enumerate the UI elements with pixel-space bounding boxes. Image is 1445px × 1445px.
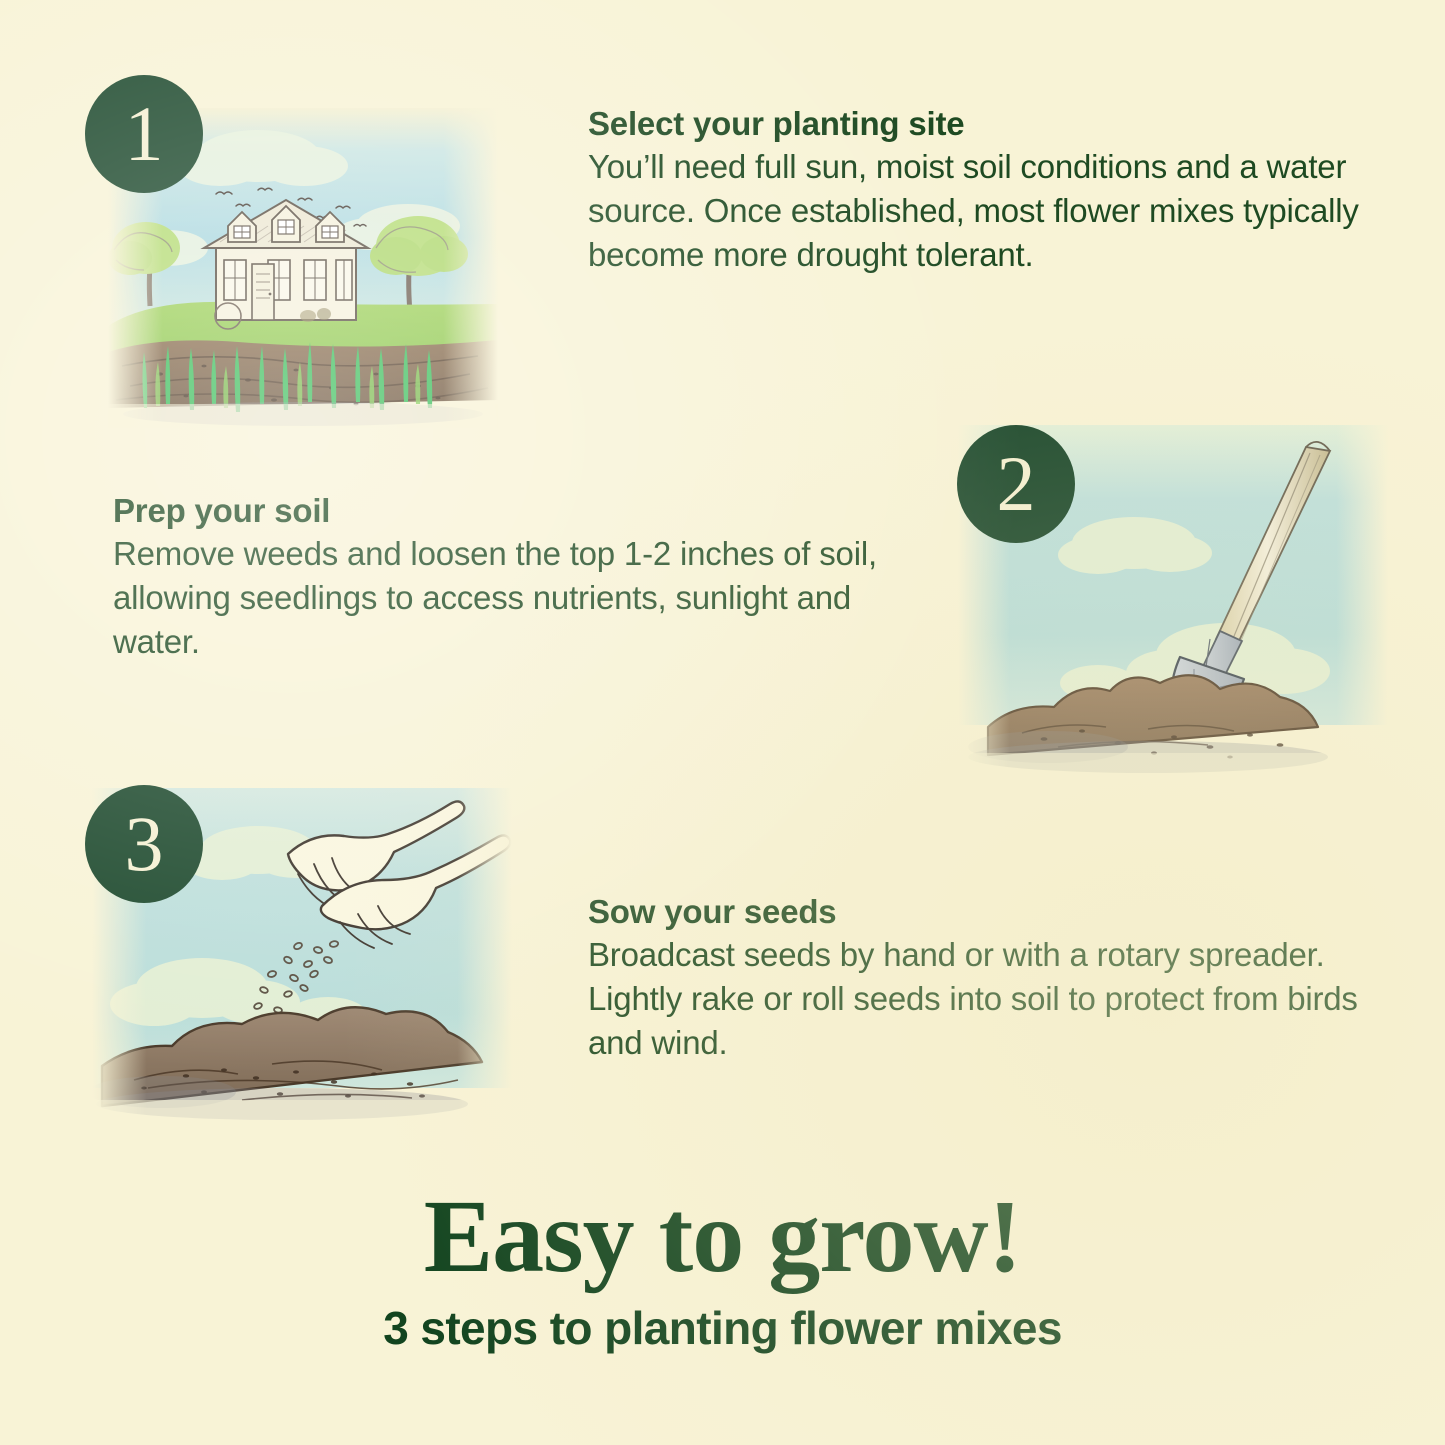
- step-number-1: 1: [125, 95, 164, 173]
- step-body-1: You’ll need full sun, moist soil conditi…: [588, 145, 1378, 278]
- step-body-2: Remove weeds and loosen the top 1-2 inch…: [113, 532, 893, 665]
- step-heading-2: Prep your soil: [113, 492, 893, 530]
- step-heading-1: Select your planting site: [588, 105, 1378, 143]
- step-text-1: Select your planting site You’ll need fu…: [588, 105, 1378, 278]
- footer-title: Easy to grow!: [0, 1185, 1445, 1289]
- step-text-3: Sow your seeds Broadcast seeds by hand o…: [588, 893, 1378, 1066]
- step-number-badge-2: 2: [957, 425, 1075, 543]
- step-number-2: 2: [997, 445, 1036, 523]
- step-number-badge-3: 3: [85, 785, 203, 903]
- step-number-badge-1: 1: [85, 75, 203, 193]
- step-number-3: 3: [125, 805, 164, 883]
- footer-subtitle: 3 steps to planting flower mixes: [0, 1301, 1445, 1356]
- step-heading-3: Sow your seeds: [588, 893, 1378, 931]
- step-text-2: Prep your soil Remove weeds and loosen t…: [113, 492, 893, 665]
- infographic-canvas: 1 2 3 Select your planting site You’ll n…: [0, 0, 1445, 1445]
- footer: Easy to grow! 3 steps to planting flower…: [0, 1185, 1445, 1356]
- step-body-3: Broadcast seeds by hand or with a rotary…: [588, 933, 1378, 1066]
